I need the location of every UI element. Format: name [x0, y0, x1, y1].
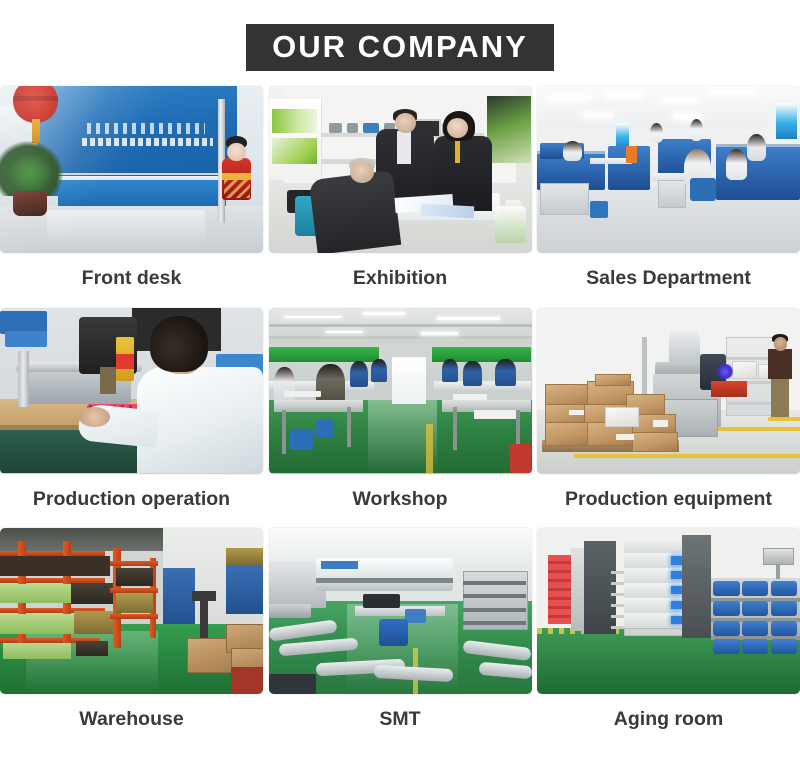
lamp-icon	[192, 591, 216, 601]
red-cart-icon	[231, 667, 263, 694]
photo-caption: Exhibition	[353, 253, 447, 305]
photo-warehouse[interactable]	[0, 528, 263, 694]
company-profile-page: OUR COMPANY	[0, 0, 800, 759]
person-icon	[726, 149, 747, 179]
worker-icon	[371, 359, 387, 382]
blue-unit-icon	[771, 639, 797, 654]
blue-unit-icon	[742, 639, 768, 654]
person-icon	[747, 134, 765, 161]
gallery-row: Front desk	[0, 86, 800, 305]
gallery-cell-sales-department[interactable]: Sales Department	[537, 86, 800, 305]
blue-unit-icon	[771, 581, 797, 596]
wall-banner-icon	[776, 103, 797, 140]
photo-caption: Production operation	[33, 474, 230, 526]
person-icon	[768, 349, 792, 379]
scene-worker-at-dispensing-machine	[0, 308, 263, 474]
gallery-cell-warehouse[interactable]: Warehouse	[0, 528, 263, 746]
worker-icon	[442, 359, 458, 382]
status-led-icon	[671, 616, 682, 624]
scene-pallet-racking-storage	[0, 528, 263, 694]
photo-production-equipment[interactable]	[537, 308, 800, 474]
page-title: OUR COMPANY	[272, 31, 528, 62]
status-led-icon	[671, 601, 682, 609]
worker-icon	[350, 361, 368, 388]
photo-caption: Warehouse	[79, 694, 183, 746]
red-cart-icon	[510, 444, 531, 474]
worker-icon	[463, 361, 481, 386]
worker-icon	[316, 364, 345, 404]
photo-caption: Production equipment	[565, 474, 772, 526]
scene-machine-and-cartons	[537, 308, 800, 474]
blue-unit-icon	[713, 621, 739, 636]
blue-unit-icon	[742, 581, 768, 596]
person-icon	[650, 123, 663, 143]
photo-workshop[interactable]	[269, 308, 532, 474]
photo-caption: Workshop	[353, 474, 448, 526]
photo-production-operation[interactable]	[0, 308, 263, 474]
blue-unit-icon	[713, 639, 739, 654]
gallery-cell-smt[interactable]: SMT	[269, 528, 532, 746]
photo-front-desk[interactable]	[0, 86, 263, 253]
photo-caption: Front desk	[82, 253, 182, 305]
photo-caption: Sales Department	[586, 253, 751, 305]
gallery-cell-production-equipment[interactable]: Production equipment	[537, 308, 800, 526]
status-led-icon	[671, 556, 682, 564]
scene-assembly-line-hall	[269, 308, 532, 474]
gallery-cell-exhibition[interactable]: Exhibition	[269, 86, 532, 305]
photo-aging-room[interactable]	[537, 528, 800, 694]
scene-burn-in-test-racks	[537, 528, 800, 694]
gallery-cell-front-desk[interactable]: Front desk	[0, 86, 263, 305]
stool-icon	[379, 619, 408, 646]
photo-caption: Aging room	[614, 694, 723, 746]
blue-unit-icon	[742, 601, 768, 616]
worker-icon	[274, 367, 295, 404]
title-banner: OUR COMPANY	[246, 24, 554, 71]
worker-icon	[495, 359, 516, 386]
page-header: OUR COMPANY	[0, 0, 800, 86]
photo-smt[interactable]	[269, 528, 532, 694]
gallery-cell-workshop[interactable]: Workshop	[269, 308, 532, 526]
photo-exhibition[interactable]	[269, 86, 532, 253]
status-led-icon	[671, 586, 682, 594]
blue-unit-icon	[713, 581, 739, 596]
scene-trade-show-booth	[269, 86, 532, 253]
scene-smt-reflow-line	[269, 528, 532, 694]
person-icon	[563, 141, 581, 161]
uv-lamp-glow-icon	[716, 364, 734, 379]
person-seated-icon	[309, 170, 402, 253]
status-led-icon	[671, 571, 682, 579]
wall-meter-icon	[763, 548, 794, 565]
blue-unit-icon	[771, 621, 797, 636]
blue-unit-icon	[771, 601, 797, 616]
scene-open-plan-office	[537, 86, 800, 253]
scene-office-reception	[0, 86, 263, 253]
gallery-row: Production operation	[0, 308, 800, 526]
gallery-row: Warehouse	[0, 528, 800, 746]
gallery-cell-aging-room[interactable]: Aging room	[537, 528, 800, 746]
photo-caption: SMT	[379, 694, 420, 746]
blue-unit-icon	[742, 621, 768, 636]
green-panel-icon	[269, 347, 379, 362]
gallery-cell-production-operation[interactable]: Production operation	[0, 308, 263, 526]
photo-sales-department[interactable]	[537, 86, 800, 253]
blue-unit-icon	[713, 601, 739, 616]
photo-gallery-grid: Front desk	[0, 86, 800, 746]
person-icon	[690, 119, 703, 141]
